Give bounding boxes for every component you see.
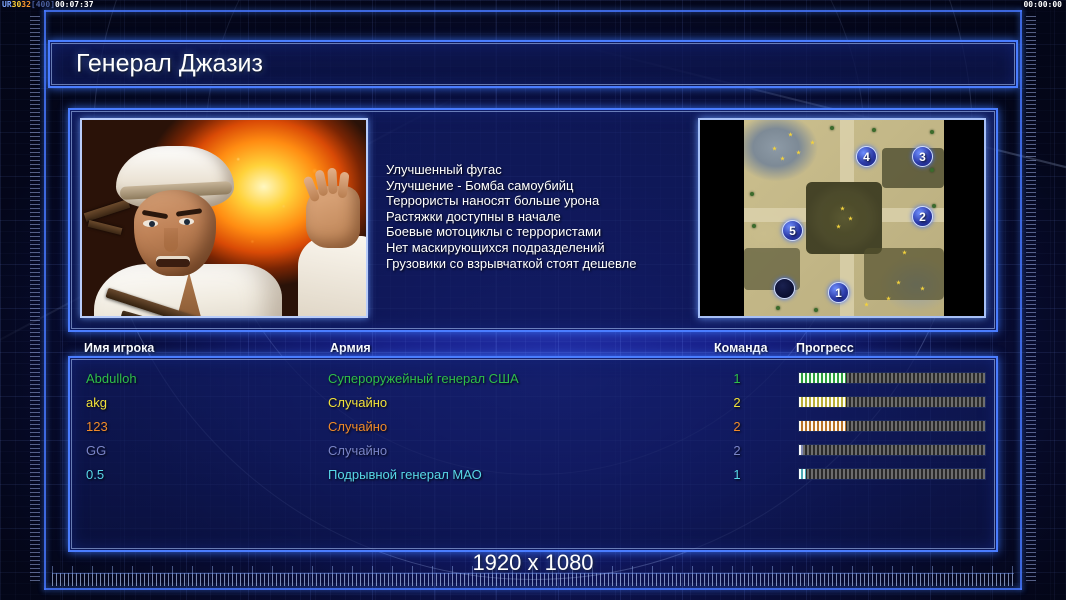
- player-name: 0.5: [86, 467, 104, 482]
- column-header-army: Армия: [330, 341, 371, 355]
- minimap-tree: [776, 306, 780, 310]
- table-row[interactable]: AbdullohСупероружейный генерал США1: [70, 366, 996, 390]
- progress-fill: [799, 421, 846, 431]
- character-figure: [110, 146, 242, 316]
- minimap-tree: [930, 130, 934, 134]
- player-team: 2: [722, 443, 752, 458]
- progress-fill: [799, 445, 803, 455]
- player-name: 123: [86, 419, 108, 434]
- minimap-image: 4 3 2 5 1: [744, 120, 944, 316]
- hud-elapsed-timer: 00:07:37: [55, 0, 94, 9]
- minimap-tree: [752, 224, 756, 228]
- hud-bracket-value: [400]: [31, 0, 55, 9]
- player-army: Подрывной генерал МАО: [328, 467, 482, 482]
- minimap-tree: [750, 192, 754, 196]
- minimap-region-bottomright: [864, 248, 944, 300]
- description-line: Террористы наносят больше урона: [386, 193, 704, 209]
- minimap-tree: [930, 168, 934, 172]
- column-header-progress: Прогресс: [796, 341, 854, 355]
- player-team: 2: [722, 395, 752, 410]
- general-description-list: Улучшенный фугас Улучшение - Бомба самоу…: [386, 162, 704, 271]
- minimap-tree: [872, 128, 876, 132]
- player-progress-bar: [798, 444, 986, 456]
- progress-track: [799, 445, 985, 455]
- ruler-right: [1026, 16, 1036, 584]
- game-lobby-screen: UR3032[400]00:07:37 00:00:00 Генерал Джа…: [0, 0, 1066, 600]
- frame-line-right: [1020, 10, 1022, 590]
- player-progress-bar: [798, 420, 986, 432]
- page-title: Генерал Джазиз: [76, 50, 263, 79]
- minimap-spawn-point[interactable]: 4: [856, 146, 877, 167]
- column-header-team: Команда: [714, 341, 768, 355]
- general-info-panel: Улучшенный фугас Улучшение - Бомба самоу…: [68, 108, 998, 332]
- hud-fps-label: UR: [2, 0, 12, 9]
- general-portrait: [80, 118, 368, 318]
- minimap-tree: [830, 126, 834, 130]
- description-line: Нет маскирующихся подразделений: [386, 240, 704, 256]
- character-nose: [164, 228, 178, 252]
- minimap-spawn-point[interactable]: 3: [912, 146, 933, 167]
- table-row[interactable]: akgСлучайно2: [70, 390, 996, 414]
- hud-value-2: 32: [21, 0, 31, 9]
- minimap-spawn-point[interactable]: 2: [912, 206, 933, 227]
- minimap-road-north: [840, 120, 854, 182]
- player-progress-bar: [798, 372, 986, 384]
- table-row[interactable]: 0.5Подрывной генерал МАО1: [70, 462, 996, 486]
- character-sleeve: [298, 236, 366, 316]
- player-progress-bar: [798, 468, 986, 480]
- player-team: 1: [722, 371, 752, 386]
- title-panel: Генерал Джазиз: [48, 40, 1018, 88]
- player-team: 1: [722, 467, 752, 482]
- table-row[interactable]: 123Случайно2: [70, 414, 996, 438]
- player-name: Abdulloh: [86, 371, 137, 386]
- progress-track: [799, 469, 985, 479]
- description-line: Грузовики со взрывчаткой стоят дешевле: [386, 256, 704, 272]
- minimap-tree: [932, 204, 936, 208]
- player-team: 2: [722, 419, 752, 434]
- resolution-label: 1920 x 1080: [0, 550, 1066, 576]
- ruler-left: [30, 16, 40, 584]
- player-name: akg: [86, 395, 107, 410]
- description-line: Боевые мотоциклы с террористами: [386, 224, 704, 240]
- progress-fill: [799, 397, 846, 407]
- column-header-name: Имя игрока: [84, 341, 154, 355]
- hud-performance-overlay: UR3032[400]00:07:37: [2, 0, 94, 10]
- player-army: Супероружейный генерал США: [328, 371, 519, 386]
- player-army: Случайно: [328, 443, 387, 458]
- portrait-artwork: [82, 120, 366, 316]
- description-line: Улучшенный фугас: [386, 162, 704, 178]
- player-progress-bar: [798, 396, 986, 408]
- hud-session-timer: 00:00:00: [1023, 0, 1062, 10]
- player-list-panel: AbdullohСупероружейный генерал США1akgСл…: [68, 356, 998, 552]
- frame-line-bottom: [44, 588, 1022, 590]
- minimap-tree: [814, 308, 818, 312]
- frame-line-left: [44, 10, 46, 590]
- progress-fill: [799, 469, 806, 479]
- character-pupil-right: [184, 219, 190, 225]
- player-name: GG: [86, 443, 106, 458]
- player-army: Случайно: [328, 395, 387, 410]
- character-finger-3: [327, 168, 337, 194]
- description-line: Растяжки доступны в начале: [386, 209, 704, 225]
- progress-fill: [799, 373, 846, 383]
- frame-line-top: [44, 10, 1022, 12]
- player-army: Случайно: [328, 419, 387, 434]
- minimap-spawn-point[interactable]: 1: [828, 282, 849, 303]
- minimap-spawn-point-empty[interactable]: [774, 278, 795, 299]
- minimap-preview[interactable]: 4 3 2 5 1: [698, 118, 986, 318]
- minimap-center-plateau: [806, 182, 882, 254]
- character-pupil-left: [149, 221, 155, 227]
- description-line: Улучшение - Бомба самоубийц: [386, 178, 704, 194]
- character-mouth: [156, 256, 190, 267]
- table-row[interactable]: GGСлучайно2: [70, 438, 996, 462]
- hud-value-1: 30: [12, 0, 22, 9]
- minimap-spawn-point[interactable]: 5: [782, 220, 803, 241]
